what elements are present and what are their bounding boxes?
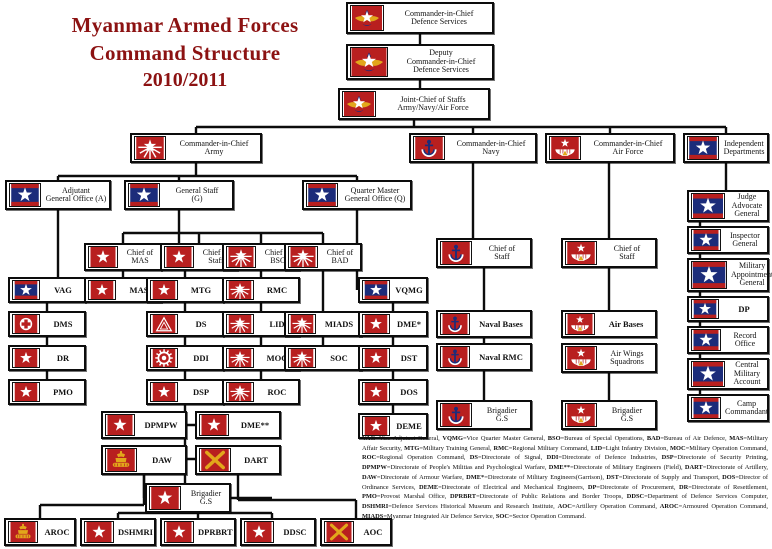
node-judge-adv[interactable]: JudgeAdvocateGeneral (687, 190, 769, 222)
node-label: Chief ofStaff (599, 245, 655, 262)
node-ddi[interactable]: DDI (146, 345, 224, 371)
gear-icon (150, 348, 178, 368)
node-label: MIADS (318, 320, 360, 329)
node-gs[interactable]: General Staff(G) (124, 180, 234, 210)
node-label: AOC (356, 528, 390, 537)
node-vqmg[interactable]: VQMG (358, 277, 428, 303)
army-starburst-icon (226, 348, 254, 368)
node-chief-mas[interactable]: Chief ofMAS (84, 243, 162, 271)
node-label: BrigadierG.S (599, 407, 655, 424)
node-label: BrigadierG.S (183, 490, 229, 507)
tricolor-star-icon (306, 183, 338, 207)
tricolor-star-icon (691, 329, 721, 351)
tricolor-star-icon (691, 193, 725, 219)
airforce-wings-icon (565, 313, 595, 335)
title-line-1: Myanmar Armed Forces (20, 12, 350, 40)
defence-services-emblem-icon (342, 91, 376, 117)
army-starburst-icon (226, 382, 254, 402)
node-dst[interactable]: DST (358, 345, 428, 371)
node-label: DOS (392, 388, 426, 397)
node-qmgo[interactable]: Quarter MasterGeneral Office (Q) (302, 180, 412, 210)
airforce-wings-icon (565, 241, 597, 265)
node-mil-appt[interactable]: MilitaryAppointmentGeneral (687, 258, 769, 292)
node-label: IndependentDepartments (721, 140, 767, 157)
node-label: Commander-in-ChiefDefence Services (386, 10, 492, 27)
red-star-icon (88, 246, 118, 268)
node-label: CampCommandant (723, 400, 770, 417)
node-dsp[interactable]: DSP (146, 379, 224, 405)
army-starburst-icon (226, 280, 254, 300)
node-cma[interactable]: CentralMilitaryAccount (687, 358, 769, 390)
node-label: AROC (40, 528, 74, 537)
node-label: DSHMRI (116, 528, 155, 537)
gold-cross-icon (199, 448, 231, 472)
node-label: AdjutantGeneral Office (A) (43, 187, 109, 204)
node-label: RecordOffice (723, 332, 767, 349)
node-record-office[interactable]: RecordOffice (687, 326, 769, 354)
node-cinc-af[interactable]: Commander-in-ChiefAir Force (545, 133, 675, 163)
node-insp-gen[interactable]: InspectorGeneral (687, 226, 769, 254)
red-star-icon (149, 486, 181, 510)
node-brigadier-gs-af[interactable]: BrigadierG.S (561, 400, 657, 430)
gold-cross-icon (324, 521, 354, 543)
node-label: DSP (180, 388, 222, 397)
red-star-icon (84, 521, 114, 543)
node-rmc[interactable]: RMC (222, 277, 300, 303)
army-starburst-icon (226, 246, 256, 268)
navy-anchor-icon (413, 136, 445, 160)
node-dprbrt[interactable]: DPRBRT (160, 518, 236, 546)
node-label: VQMG (392, 286, 426, 295)
tricolor-star-icon (691, 361, 725, 387)
node-ds[interactable]: DS (146, 311, 224, 337)
tricolor-star-icon (687, 136, 719, 160)
node-cinc-navy[interactable]: Commander-in-ChiefNavy (409, 133, 537, 163)
army-starburst-icon (288, 246, 318, 268)
army-starburst-icon (288, 314, 316, 334)
node-label: InspectorGeneral (723, 232, 767, 249)
node-dr[interactable]: DR (8, 345, 86, 371)
node-cinc-army[interactable]: Commander-in-ChiefArmy (130, 133, 262, 163)
node-cinc-ds[interactable]: Commander-in-ChiefDefence Services (346, 2, 494, 34)
node-label: Quarter MasterGeneral Office (Q) (340, 187, 410, 204)
node-label: RMC (256, 286, 298, 295)
node-roc[interactable]: ROC (222, 379, 300, 405)
node-label: Commander-in-ChiefArmy (168, 140, 260, 157)
gold-tank-icon (8, 521, 38, 543)
node-label: DEME (392, 422, 426, 431)
tricolor-star-icon (691, 229, 721, 251)
node-brigadier-gs-army[interactable]: BrigadierG.S (145, 483, 231, 513)
abbreviation-legend: VAG=Vice Adjutant General, VQMG=Vice Qua… (362, 434, 768, 522)
node-label: Naval RMC (472, 353, 530, 362)
node-label: Commander-in-ChiefNavy (447, 140, 535, 157)
node-label: DS (180, 320, 222, 329)
tricolor-star-icon (691, 299, 719, 319)
node-label: PMO (42, 388, 84, 397)
node-label: DDSC (276, 528, 314, 537)
node-air-wings[interactable]: Air WingsSquadrons (561, 343, 657, 373)
red-star-icon (12, 382, 40, 402)
node-label: DDI (180, 354, 222, 363)
tricolor-star-icon (362, 280, 390, 300)
node-label: CentralMilitaryAccount (727, 361, 767, 386)
red-star-icon (164, 246, 194, 268)
node-label: Air WingsSquadrons (599, 350, 655, 367)
org-chart-canvas: Myanmar Armed Forces Command Structure 2… (0, 0, 772, 549)
red-cross-icon (12, 314, 40, 334)
node-chief-staff-navy[interactable]: Chief ofStaff (436, 238, 532, 268)
army-starburst-icon (134, 136, 166, 160)
node-mtg[interactable]: MTG (146, 277, 224, 303)
red-star-icon (150, 382, 178, 402)
tricolor-star-icon (691, 397, 721, 419)
node-camp-cmd[interactable]: CampCommandant (687, 394, 769, 422)
node-dart[interactable]: DART (195, 445, 281, 475)
red-star-icon (362, 314, 390, 334)
node-naval-rmc[interactable]: Naval RMC (436, 343, 532, 371)
red-star-icon (362, 382, 390, 402)
node-label: DeputyCommander-in-ChiefDefence Services (390, 49, 492, 74)
node-label: DR (42, 354, 84, 363)
node-label: DAW (139, 456, 185, 465)
red-star-icon (362, 348, 390, 368)
node-naval-bases[interactable]: Naval Bases (436, 310, 532, 338)
navy-anchor-icon (440, 403, 472, 427)
red-star-icon (244, 521, 274, 543)
red-star-icon (362, 416, 390, 436)
node-vag[interactable]: VAG (8, 277, 86, 303)
tricolor-star-icon (9, 183, 41, 207)
tricolor-star-icon (691, 261, 727, 289)
node-label: DP (721, 305, 767, 314)
node-dme-starstar[interactable]: DME** (195, 411, 281, 439)
node-label: Chief ofBAD (320, 249, 360, 266)
node-dshmri[interactable]: DSHMRI (80, 518, 156, 546)
node-dms[interactable]: DMS (8, 311, 86, 337)
red-star-icon (105, 414, 135, 436)
red-star-icon (164, 521, 194, 543)
node-ddsc[interactable]: DDSC (240, 518, 316, 546)
node-label: VAG (42, 286, 84, 295)
node-aoc[interactable]: AOC (320, 518, 392, 546)
defence-services-emblem-icon (350, 5, 384, 31)
airforce-wings-icon (565, 346, 597, 370)
node-joint-chief[interactable]: Joint-Chief of StaffsArmy/Navy/Air Force (338, 88, 490, 120)
node-label: Joint-Chief of StaffsArmy/Navy/Air Force (378, 96, 488, 113)
node-miads[interactable]: MIADS (284, 311, 362, 337)
node-label: DPRBRT (196, 528, 235, 537)
node-aroc[interactable]: AROC (4, 518, 76, 546)
navy-anchor-icon (440, 313, 470, 335)
airforce-wings-icon (549, 136, 581, 160)
army-starburst-icon (288, 348, 316, 368)
node-dp[interactable]: DP (687, 296, 769, 322)
node-label: MilitaryAppointmentGeneral (729, 262, 772, 287)
title-line-2: Command Structure (20, 40, 350, 68)
node-pmo[interactable]: PMO (8, 379, 86, 405)
tricolor-star-icon (128, 183, 160, 207)
node-daw[interactable]: DAW (101, 445, 187, 475)
red-star-icon (150, 280, 178, 300)
node-label: MTG (180, 286, 222, 295)
red-star-icon (199, 414, 229, 436)
node-label: DART (233, 456, 279, 465)
node-dpmpw[interactable]: DPMPW (101, 411, 187, 439)
node-label: Naval Bases (472, 320, 530, 329)
army-starburst-icon (226, 314, 254, 334)
node-brigadier-gs-navy[interactable]: BrigadierG.S (436, 400, 532, 430)
node-label: Chief ofMAS (120, 249, 160, 266)
navy-anchor-icon (440, 346, 470, 368)
node-air-bases[interactable]: Air Bases (561, 310, 657, 338)
red-star-icon (88, 280, 116, 300)
node-label: DME** (231, 421, 279, 430)
red-star-icon (12, 348, 40, 368)
triangle-icon (150, 314, 178, 334)
node-label: DPMPW (137, 421, 185, 430)
node-label: Commander-in-ChiefAir Force (583, 140, 673, 157)
node-label: Air Bases (597, 320, 655, 329)
node-label: JudgeAdvocateGeneral (727, 193, 767, 218)
airforce-wings-icon (565, 403, 597, 427)
navy-anchor-icon (440, 241, 472, 265)
node-label: DST (392, 354, 426, 363)
gold-tank-icon (105, 448, 137, 472)
tricolor-star-icon (12, 280, 40, 300)
node-label: SOC (318, 354, 360, 363)
node-label: DMS (42, 320, 84, 329)
node-label: DME* (392, 320, 426, 329)
node-chief-bad[interactable]: Chief ofBAD (284, 243, 362, 271)
title-line-3: 2010/2011 (20, 67, 350, 93)
node-soc[interactable]: SOC (284, 345, 362, 371)
node-dme-star[interactable]: DME* (358, 311, 428, 337)
node-label: BrigadierG.S (474, 407, 530, 424)
node-dep-cinc-ds[interactable]: DeputyCommander-in-ChiefDefence Services (346, 44, 494, 80)
node-chief-staff-af[interactable]: Chief ofStaff (561, 238, 657, 268)
defence-services-emblem-icon (350, 47, 388, 77)
node-label: General Staff(G) (162, 187, 232, 204)
node-indep-dept[interactable]: IndependentDepartments (683, 133, 769, 163)
node-label: ROC (256, 388, 298, 397)
node-ago[interactable]: AdjutantGeneral Office (A) (5, 180, 111, 210)
page-title: Myanmar Armed Forces Command Structure 2… (20, 12, 350, 94)
node-dos[interactable]: DOS (358, 379, 428, 405)
node-label: Chief ofStaff (474, 245, 530, 262)
